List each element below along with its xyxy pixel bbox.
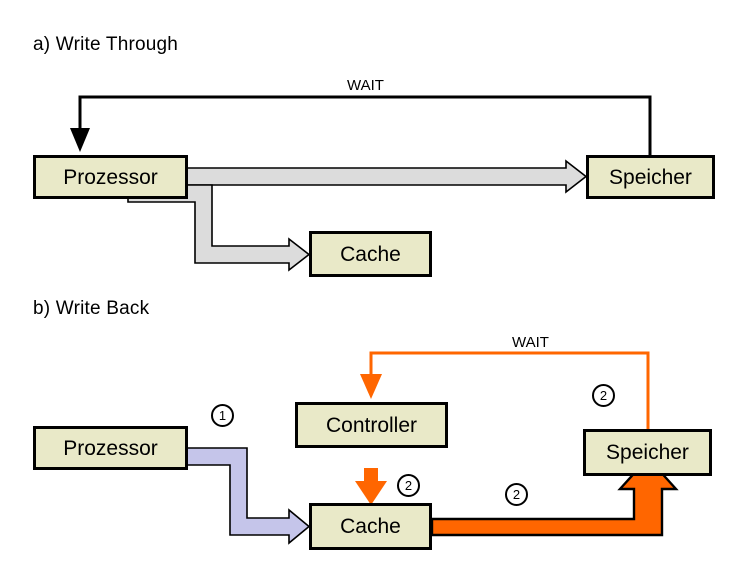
step-marker-2-cache-speicher: 2 [505, 483, 528, 506]
wire-wait-a [70, 97, 650, 155]
node-prozessor-b[interactable]: Prozessor [33, 426, 188, 470]
node-prozessor-a[interactable]: Prozessor [33, 155, 188, 199]
node-label: Speicher [606, 442, 689, 463]
section-b-caption: b) Write Back [33, 298, 149, 320]
section-a-caption: a) Write Through [33, 34, 178, 56]
node-label: Cache [340, 516, 401, 537]
step-marker-1: 1 [211, 404, 234, 427]
node-label: Prozessor [63, 167, 158, 188]
node-cache-b[interactable]: Cache [309, 503, 432, 550]
wire-proc-to-speicher-a [128, 161, 586, 192]
diagram-canvas: a) Write Through WAIT Prozessor Speicher… [0, 0, 751, 580]
node-controller-b[interactable]: Controller [295, 402, 448, 448]
wait-label-b: WAIT [512, 334, 549, 351]
node-speicher-b[interactable]: Speicher [583, 429, 712, 476]
node-label: Prozessor [63, 438, 158, 459]
node-label: Controller [326, 415, 417, 436]
wire-controller-to-cache-b [355, 468, 387, 505]
node-label: Speicher [609, 167, 692, 188]
step-marker-2-speicher-wait: 2 [592, 384, 615, 407]
node-label: Cache [340, 244, 401, 265]
node-cache-a[interactable]: Cache [309, 231, 432, 277]
wait-label-a: WAIT [347, 77, 384, 94]
node-speicher-a[interactable]: Speicher [586, 155, 715, 199]
step-marker-2-controller-cache: 2 [397, 474, 420, 497]
